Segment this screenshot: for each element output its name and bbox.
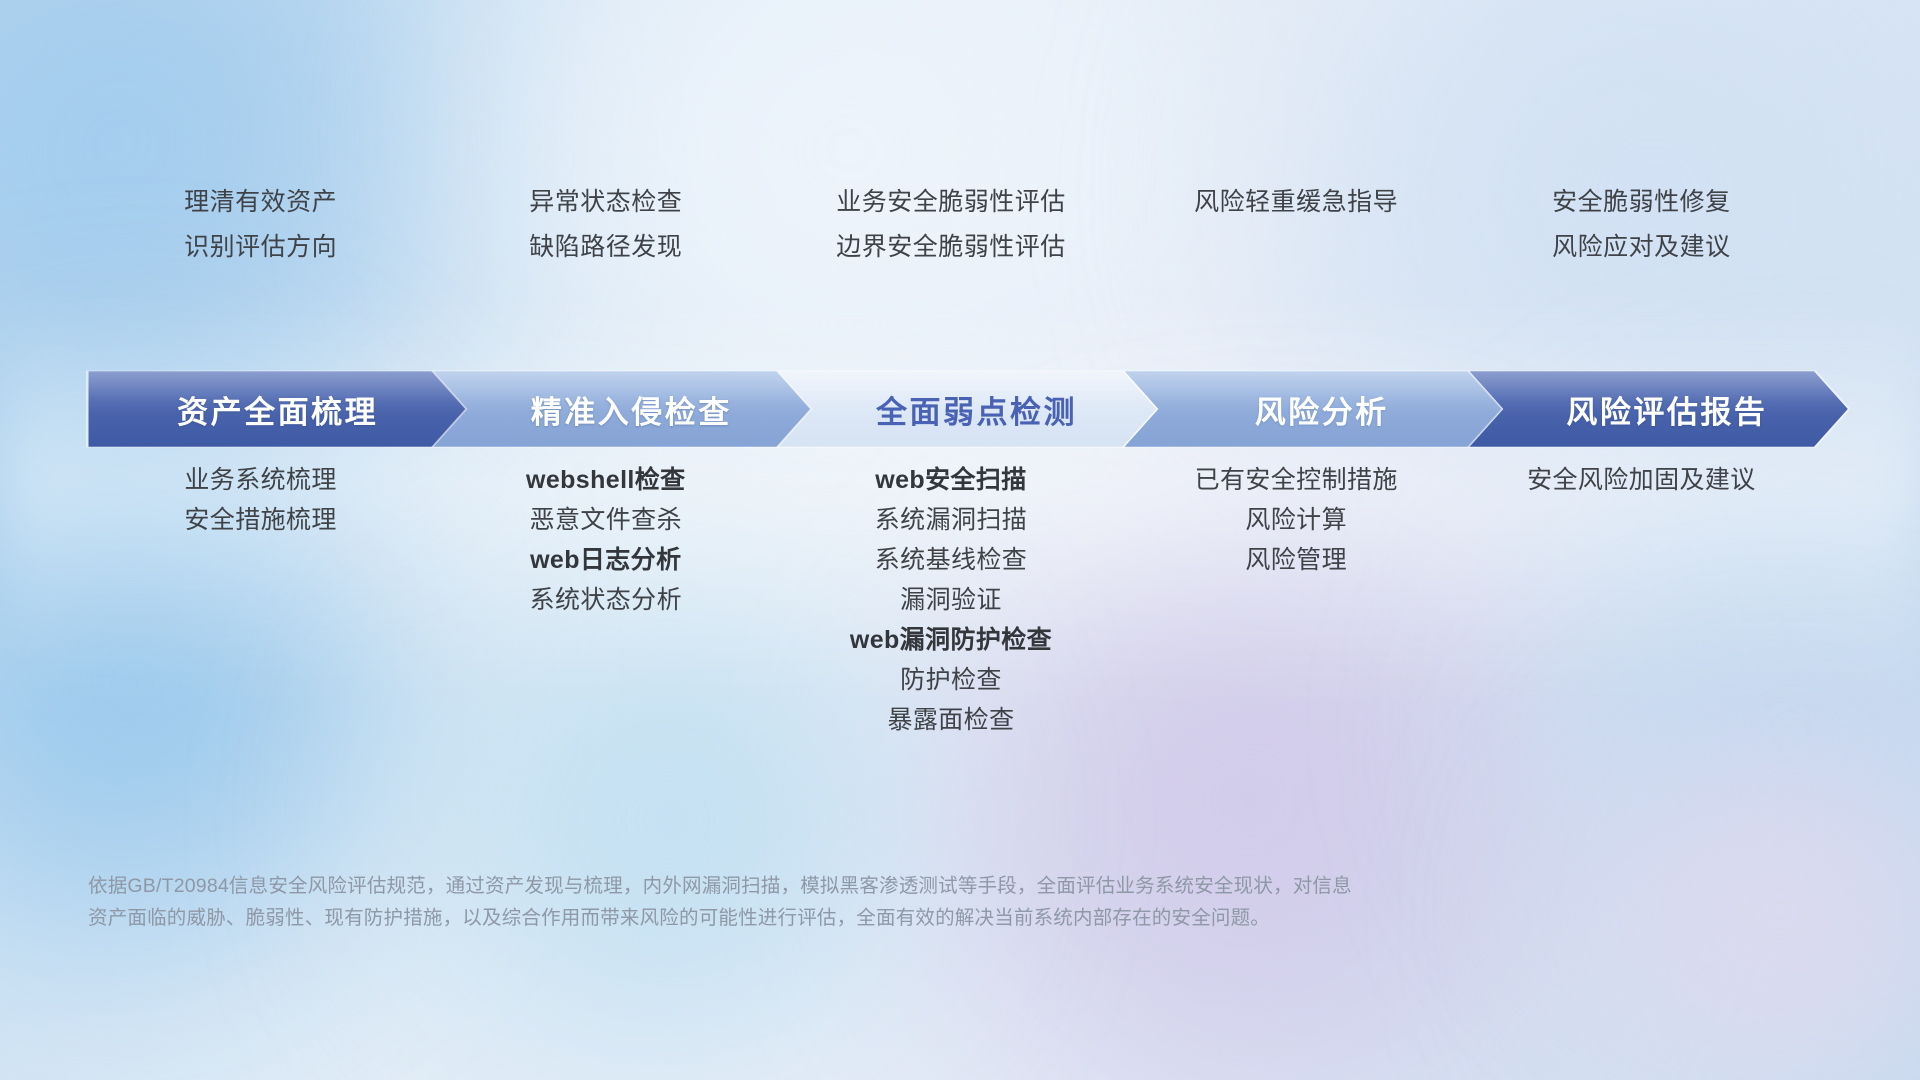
stage-chevron-weakness-detection[interactable]: 全面弱点检测 [778,371,1157,447]
stage-chevron-risk-report[interactable]: 风险评估报告 [1469,371,1848,447]
stage-note: 边界安全脆弱性评估 [778,225,1123,270]
stage-note: 风险轻重缓急指导 [1124,180,1469,225]
stage-top-notes-asset-overview: 理清有效资产识别评估方向 [88,180,433,270]
stage-detail-list-weakness-detection: web安全扫描系统漏洞扫描系统基线检查漏洞验证web漏洞防护检查防护检查暴露面检… [778,460,1123,740]
stage-detail-item: 防护检查 [778,660,1123,700]
stage-detail-list-risk-report: 安全风险加固及建议 [1469,460,1814,500]
stage-chevron-risk-analysis[interactable]: 风险分析 [1124,371,1503,447]
stage-top-notes-row: 理清有效资产识别评估方向异常状态检查缺陷路径发现业务安全脆弱性评估边界安全脆弱性… [0,180,1920,290]
stage-chevron-asset-overview[interactable]: 资产全面梳理 [88,371,467,447]
stage-detail-item: 系统状态分析 [433,580,778,620]
stage-top-notes-risk-analysis: 风险轻重缓急指导 [1124,180,1469,225]
stage-detail-item: 恶意文件查杀 [433,500,778,540]
stage-note: 理清有效资产 [88,180,433,225]
stage-detail-item: web日志分析 [433,540,778,580]
process-diagram: 理清有效资产识别评估方向异常状态检查缺陷路径发现业务安全脆弱性评估边界安全脆弱性… [0,0,1920,1080]
stage-title-intrusion-check: 精准入侵检查 [531,387,732,432]
stage-top-notes-risk-report: 安全脆弱性修复风险应对及建议 [1469,180,1814,270]
stage-detail-item: 风险管理 [1124,540,1469,580]
stage-detail-item: webshell检查 [433,460,778,500]
stage-detail-item: 已有安全控制措施 [1124,460,1469,500]
stage-detail-item: 安全风险加固及建议 [1469,460,1814,500]
stage-note: 业务安全脆弱性评估 [778,180,1123,225]
stage-note: 缺陷路径发现 [433,225,778,270]
stage-chevron-intrusion-check[interactable]: 精准入侵检查 [433,371,812,447]
stage-title-risk-analysis: 风险分析 [1255,387,1389,432]
stage-detail-item: web漏洞防护检查 [778,620,1123,660]
footer-description: 依据GB/T20984信息安全风险评估规范，通过资产发现与梳理，内外网漏洞扫描，… [88,870,1728,934]
stage-title-asset-overview: 资产全面梳理 [177,387,378,432]
footer-line-1: 依据GB/T20984信息安全风险评估规范，通过资产发现与梳理，内外网漏洞扫描，… [88,870,1728,902]
stage-detail-item: 漏洞验证 [778,580,1123,620]
stage-detail-item: 暴露面检查 [778,700,1123,740]
stage-top-notes-intrusion-check: 异常状态检查缺陷路径发现 [433,180,778,270]
stage-detail-list-risk-analysis: 已有安全控制措施风险计算风险管理 [1124,460,1469,580]
stage-detail-item: 系统基线检查 [778,540,1123,580]
stage-detail-list-intrusion-check: webshell检查恶意文件查杀web日志分析系统状态分析 [433,460,778,620]
stage-detail-item: 风险计算 [1124,500,1469,540]
stage-detail-item: 安全措施梳理 [88,500,433,540]
stage-title-weakness-detection: 全面弱点检测 [876,387,1077,432]
stage-detail-list-asset-overview: 业务系统梳理安全措施梳理 [88,460,433,540]
stage-detail-item: web安全扫描 [778,460,1123,500]
stage-note: 识别评估方向 [88,225,433,270]
stage-detail-item: 系统漏洞扫描 [778,500,1123,540]
stage-top-notes-weakness-detection: 业务安全脆弱性评估边界安全脆弱性评估 [778,180,1123,270]
stage-note: 异常状态检查 [433,180,778,225]
stage-note: 风险应对及建议 [1469,225,1814,270]
stage-detail-item: 业务系统梳理 [88,460,433,500]
footer-line-2: 资产面临的威胁、脆弱性、现有防护措施，以及综合作用而带来风险的可能性进行评估，全… [88,902,1728,934]
stage-chevron-banner: 资产全面梳理精准入侵检查全面弱点检测风险分析风险评估报告 [88,371,1848,447]
stage-title-risk-report: 风险评估报告 [1566,387,1767,432]
stage-note: 安全脆弱性修复 [1469,180,1814,225]
